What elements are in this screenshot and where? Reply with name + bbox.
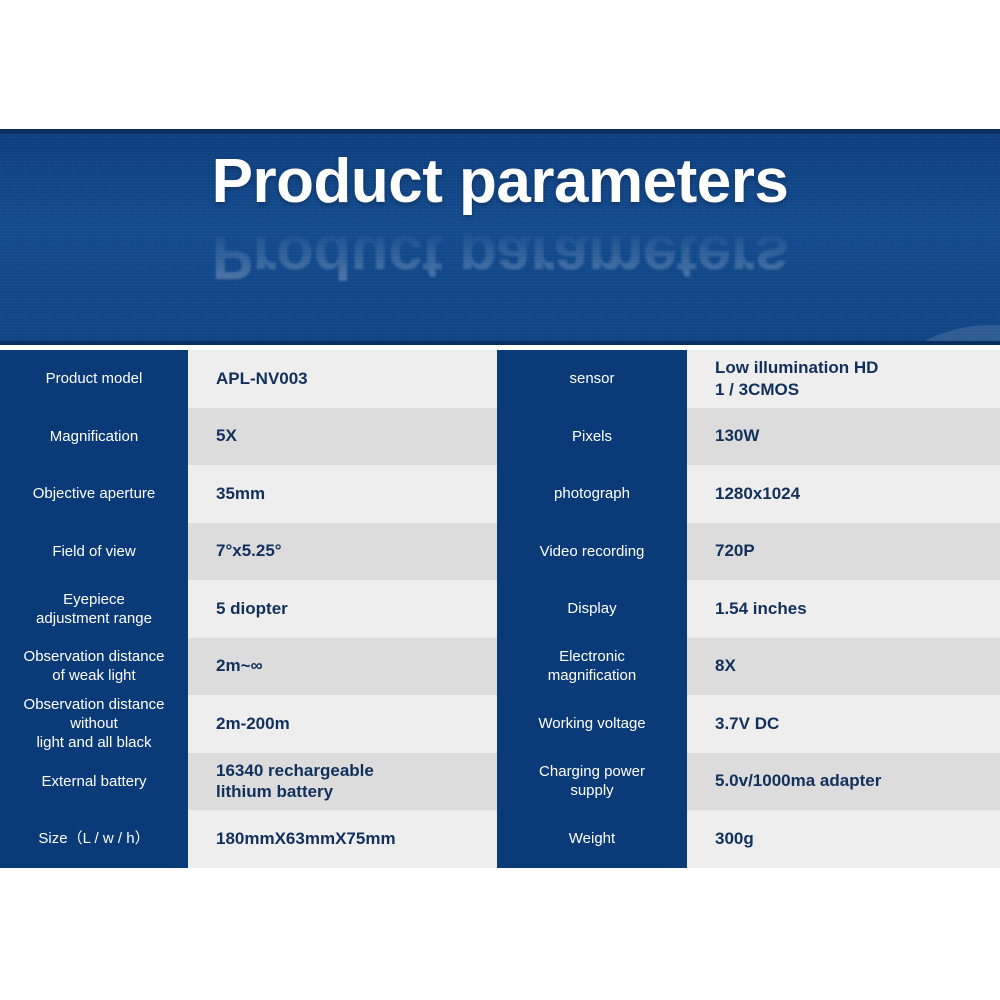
spec-row: Video recording720P: [497, 523, 1000, 581]
spec-value: 5X: [188, 408, 497, 466]
spec-row: sensorLow illumination HD1 / 3CMOS: [497, 350, 1000, 408]
spec-value: APL-NV003: [188, 350, 497, 408]
spec-value: 130W: [687, 408, 1000, 466]
spec-row: photograph1280x1024: [497, 465, 1000, 523]
spec-value: 8X: [687, 638, 1000, 696]
spec-row: Pixels130W: [497, 408, 1000, 466]
spec-row: Field of view7°x5.25°: [0, 523, 497, 581]
spec-label: Magnification: [0, 408, 188, 466]
spec-label: sensor: [497, 350, 687, 408]
spec-row: External battery16340 rechargeablelithiu…: [0, 753, 497, 811]
spec-row: Display1.54 inches: [497, 580, 1000, 638]
spec-row: Observation distanceof weak light2m~∞: [0, 638, 497, 696]
spec-value: 2m~∞: [188, 638, 497, 696]
spec-row: Objective aperture35mm: [0, 465, 497, 523]
spec-table-left: Product modelAPL-NV003Magnification5XObj…: [0, 350, 497, 868]
spec-label: Working voltage: [497, 695, 687, 753]
spec-label: Observation distancewithoutlight and all…: [0, 695, 188, 753]
spec-label: Display: [497, 580, 687, 638]
spec-row: Size（L / w / h）180mmX63mmX75mm: [0, 810, 497, 868]
spec-label: External battery: [0, 753, 188, 811]
spec-label: Field of view: [0, 523, 188, 581]
spec-row: Working voltage3.7V DC: [497, 695, 1000, 753]
spec-row: Eyepieceadjustment range5 diopter: [0, 580, 497, 638]
spec-value: 180mmX63mmX75mm: [188, 810, 497, 868]
spec-value: 2m-200m: [188, 695, 497, 753]
spec-row: Charging powersupply5.0v/1000ma adapter: [497, 753, 1000, 811]
banner-top-edge: [0, 129, 1000, 134]
spec-row: Product modelAPL-NV003: [0, 350, 497, 408]
spec-label: Size（L / w / h）: [0, 810, 188, 868]
spec-label: Electronicmagnification: [497, 638, 687, 696]
spec-table-right: sensorLow illumination HD1 / 3CMOSPixels…: [497, 350, 1000, 868]
spec-value: 5 diopter: [188, 580, 497, 638]
product-parameters-page: Product parameters Product parameters Pr…: [0, 0, 1000, 1000]
spec-row: Magnification5X: [0, 408, 497, 466]
spec-value: Low illumination HD1 / 3CMOS: [687, 350, 1000, 408]
spec-value: 3.7V DC: [687, 695, 1000, 753]
spec-value: 1.54 inches: [687, 580, 1000, 638]
spec-label: Eyepieceadjustment range: [0, 580, 188, 638]
spec-label: Video recording: [497, 523, 687, 581]
spec-value: 16340 rechargeablelithium battery: [188, 753, 497, 811]
spec-row: Weight300g: [497, 810, 1000, 868]
spec-value: 5.0v/1000ma adapter: [687, 753, 1000, 811]
page-banner: Product parameters Product parameters: [0, 129, 1000, 345]
spec-value: 7°x5.25°: [188, 523, 497, 581]
spec-label: Product model: [0, 350, 188, 408]
spec-row: Observation distancewithoutlight and all…: [0, 695, 497, 753]
banner-bottom-edge: [0, 341, 1000, 345]
spec-value: 720P: [687, 523, 1000, 581]
spec-label: Pixels: [497, 408, 687, 466]
spec-value: 1280x1024: [687, 465, 1000, 523]
spec-value: 35mm: [188, 465, 497, 523]
spec-label: Charging powersupply: [497, 753, 687, 811]
specifications-area: Product modelAPL-NV003Magnification5XObj…: [0, 350, 1000, 870]
spec-label: Observation distanceof weak light: [0, 638, 188, 696]
spec-row: Electronicmagnification8X: [497, 638, 1000, 696]
page-title-reflection: Product parameters: [0, 225, 1000, 287]
spec-label: photograph: [497, 465, 687, 523]
spec-value: 300g: [687, 810, 1000, 868]
spec-label: Objective aperture: [0, 465, 188, 523]
page-title: Product parameters: [0, 151, 1000, 213]
spec-label: Weight: [497, 810, 687, 868]
